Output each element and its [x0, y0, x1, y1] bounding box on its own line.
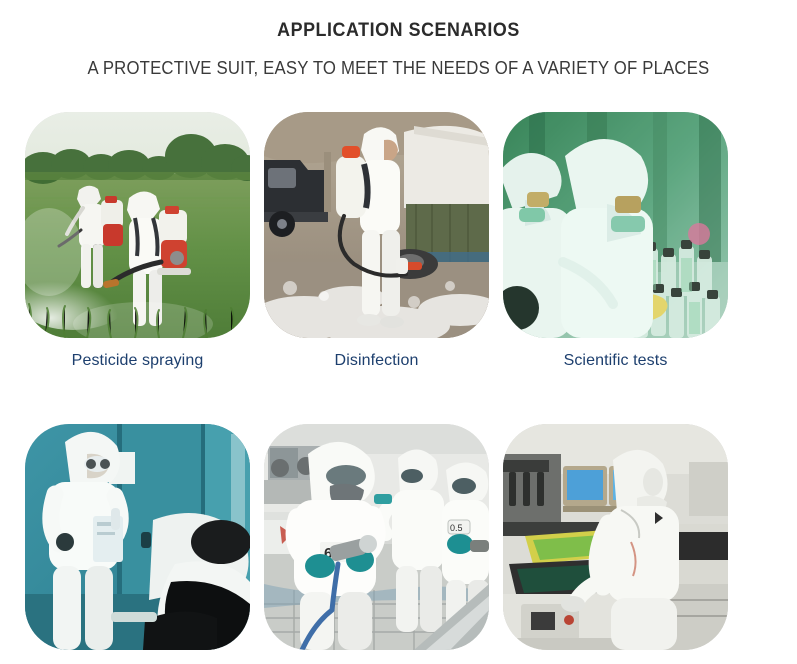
scenario-card-medical-examination[interactable]	[25, 424, 250, 664]
gallery-row: 0.5	[25, 424, 728, 664]
photo-pesticide-spraying[interactable]	[25, 112, 250, 338]
scenario-gallery: Pesticide spraying	[25, 112, 728, 664]
photo-spray-painting[interactable]: 0.5	[264, 424, 489, 650]
page-subtitle: A PROTECTIVE SUIT, EASY TO MEET THE NEED…	[28, 58, 769, 79]
svg-text:0.5: 0.5	[450, 523, 463, 533]
scenario-card-cleanroom-electronics[interactable]	[503, 424, 728, 664]
scenario-caption: Pesticide spraying	[25, 352, 250, 370]
scenario-card-disinfection[interactable]: Disinfection	[264, 112, 489, 370]
photo-disinfection[interactable]	[264, 112, 489, 338]
photo-scientific-tests[interactable]	[503, 112, 728, 338]
scenario-card-pesticide-spraying[interactable]: Pesticide spraying	[25, 112, 250, 370]
scenario-card-scientific-tests[interactable]: Scientific tests	[503, 112, 728, 370]
scenario-card-spray-painting[interactable]: 0.5	[264, 424, 489, 664]
scenario-caption: Scientific tests	[503, 352, 728, 370]
page-title: APPLICATION SCENARIOS	[24, 20, 773, 42]
scenario-caption: Disinfection	[264, 352, 489, 370]
photo-medical-examination[interactable]	[25, 424, 250, 650]
application-scenarios-page: APPLICATION SCENARIOS A PROTECTIVE SUIT,…	[0, 0, 797, 630]
gallery-row: Pesticide spraying	[25, 112, 728, 370]
photo-cleanroom-electronics[interactable]	[503, 424, 728, 650]
